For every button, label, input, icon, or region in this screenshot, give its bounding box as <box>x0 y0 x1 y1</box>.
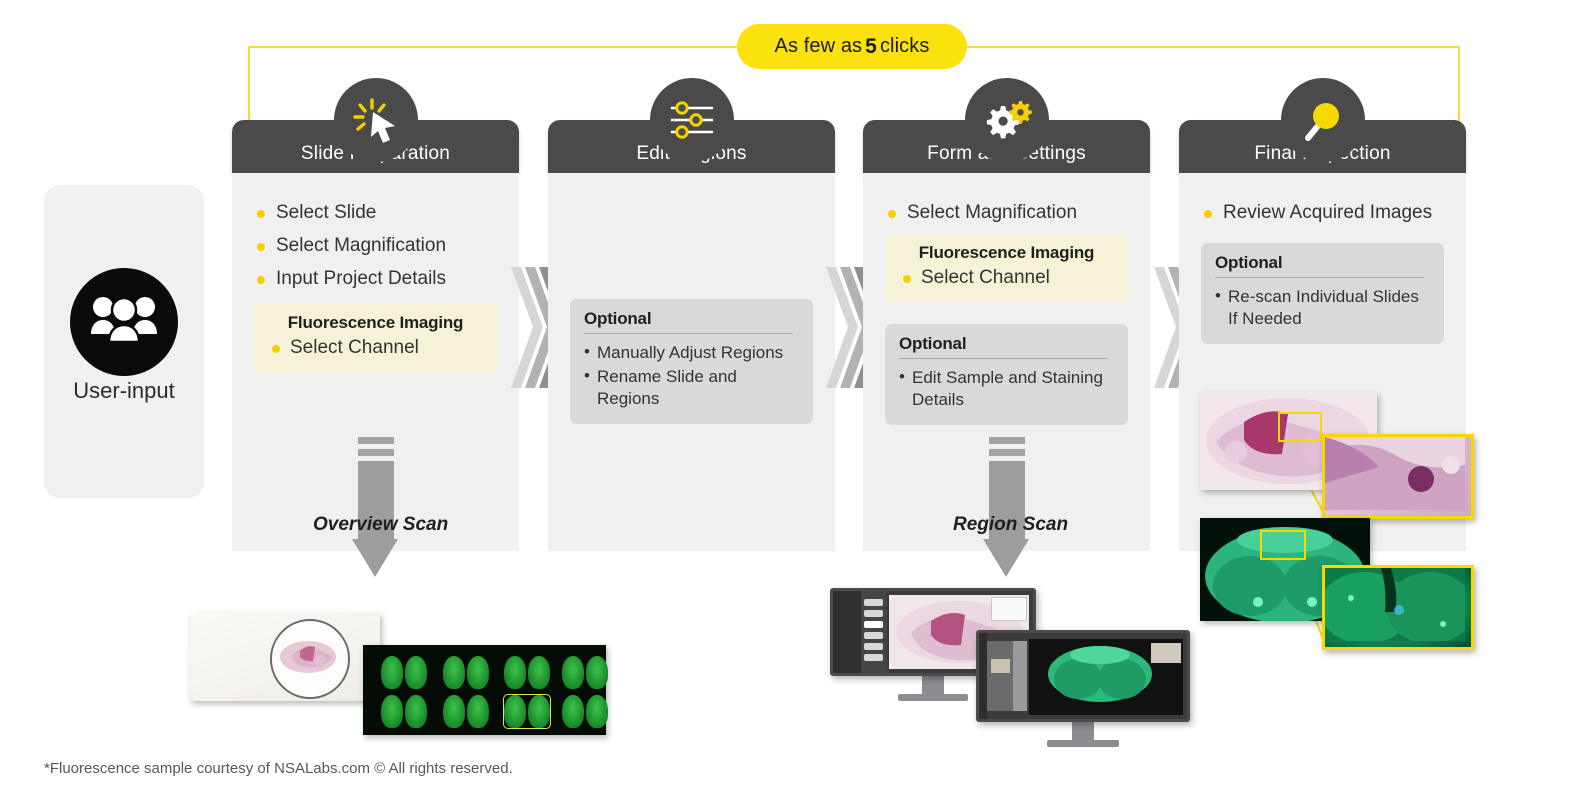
optional-heading: Optional <box>899 334 1114 358</box>
stage-header-final-inspection[interactable]: Final Inspection <box>1179 120 1466 173</box>
list-item: Review Acquired Images <box>1201 201 1444 225</box>
optional-block: Optional Manually Adjust Regions Rename … <box>570 299 813 424</box>
stage-header-form-and-settings[interactable]: Form and Settings <box>863 120 1150 173</box>
fluorescence-array-photo <box>363 645 606 735</box>
list-item: Re-scan Individual Slides If Needed <box>1215 286 1430 330</box>
clicks-badge: As few as 5 clicks <box>737 24 967 69</box>
optional-rule <box>899 358 1108 359</box>
list-item: Select Slide <box>254 201 497 225</box>
overview-scan-arrow <box>353 437 399 577</box>
he-zoom-image <box>1322 434 1474 519</box>
optional-rule <box>584 333 793 334</box>
list-item: Select Magnification <box>254 234 497 258</box>
region-scan-arrow <box>984 437 1030 577</box>
fluorescence-list: Select Channel <box>897 266 1116 290</box>
gfp-roi-box <box>1260 530 1306 560</box>
gfp-zoom-image <box>1322 565 1474 650</box>
footnote: *Fluorescence sample courtesy of NSALabs… <box>44 760 513 777</box>
list-item: Select Channel <box>897 266 1116 290</box>
he-roi-box <box>1278 412 1322 442</box>
optional-block: Optional Edit Sample and Staining Detail… <box>885 324 1128 425</box>
clicks-prefix: As few as <box>775 35 863 58</box>
list-item: Rename Slide and Regions <box>584 366 799 410</box>
fluorescence-heading: Fluorescence Imaging <box>897 243 1116 263</box>
step-list: Review Acquired Images <box>1201 201 1444 225</box>
optional-heading: Optional <box>584 309 799 333</box>
optional-list: Edit Sample and Staining Details <box>899 367 1114 411</box>
list-item: Select Magnification <box>885 201 1128 225</box>
fluorescence-block: Fluorescence Imaging Select Channel <box>885 234 1128 302</box>
cursor-click-icon <box>334 78 418 162</box>
fluorescence-block: Fluorescence Imaging Select Channel <box>254 304 497 372</box>
stage-body: Optional Manually Adjust Regions Rename … <box>548 173 835 551</box>
step-list: Select Slide Select Magnification Input … <box>254 201 497 290</box>
fluorescence-heading: Fluorescence Imaging <box>266 313 485 333</box>
scanner-monitor-fluorescence <box>976 630 1190 747</box>
list-item: Edit Sample and Staining Details <box>899 367 1114 411</box>
optional-rule <box>1215 277 1424 278</box>
optional-heading: Optional <box>1215 253 1430 277</box>
list-item: Select Channel <box>266 336 485 360</box>
gears-icon <box>965 78 1049 162</box>
clicks-suffix: clicks <box>880 35 930 58</box>
slide-tissue-ring <box>270 619 350 699</box>
clicks-count: 5 <box>862 35 880 59</box>
list-item: Manually Adjust Regions <box>584 342 799 364</box>
magnifier-icon <box>1281 78 1365 162</box>
stage-edit-regions[interactable]: Edit Regions Optional Manually Adjust Re… <box>548 120 835 551</box>
optional-block: Optional Re-scan Individual Slides If Ne… <box>1201 243 1444 344</box>
users-group-icon <box>70 268 178 376</box>
stage-header-slide-preparation[interactable]: Slide Preparation <box>232 120 519 173</box>
glass-slide-photo <box>190 613 380 701</box>
list-item: Input Project Details <box>254 267 497 291</box>
workflow-diagram: As few as 5 clicks User-input <box>0 0 1573 802</box>
optional-list: Manually Adjust Regions Rename Slide and… <box>584 342 799 410</box>
step-list: Select Magnification <box>885 201 1128 225</box>
overview-scan-label: Overview Scan <box>313 514 448 536</box>
stage-header-edit-regions[interactable]: Edit Regions <box>548 120 835 173</box>
region-scan-label: Region Scan <box>953 514 1068 536</box>
sliders-icon <box>650 78 734 162</box>
fluorescence-list: Select Channel <box>266 336 485 360</box>
optional-list: Re-scan Individual Slides If Needed <box>1215 286 1430 330</box>
user-input-label: User-input <box>44 378 204 404</box>
